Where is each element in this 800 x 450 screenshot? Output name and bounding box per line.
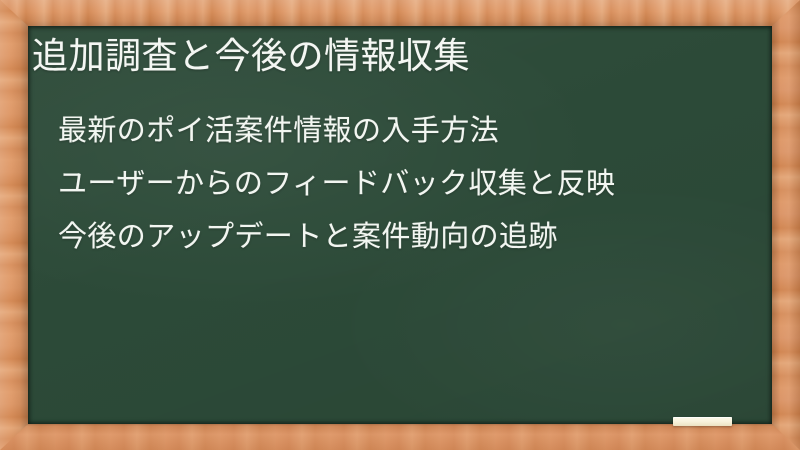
- chalkboard-surface: 追加調査と今後の情報収集 最新のポイ活案件情報の入手方法 ユーザーからのフィード…: [28, 26, 772, 424]
- bullet-item: ユーザーからのフィードバック収集と反映: [58, 158, 758, 211]
- board-content: 追加調査と今後の情報収集 最新のポイ活案件情報の入手方法 ユーザーからのフィード…: [28, 26, 772, 424]
- slide-title: 追加調査と今後の情報収集: [32, 33, 752, 78]
- chalk-stick: [673, 417, 732, 426]
- frame-bottom-ledge: [0, 424, 800, 450]
- bullet-item: 今後のアップデートと案件動向の追跡: [58, 211, 758, 264]
- bullet-item: 最新のポイ活案件情報の入手方法: [58, 105, 758, 158]
- frame-left-plank: [0, 0, 28, 450]
- bullet-list: 最新のポイ活案件情報の入手方法 ユーザーからのフィードバック収集と反映 今後のア…: [58, 105, 758, 264]
- chalkboard-slide: 追加調査と今後の情報収集 最新のポイ活案件情報の入手方法 ユーザーからのフィード…: [0, 0, 800, 450]
- frame-right-plank: [772, 0, 800, 450]
- frame-top-plank: [0, 0, 800, 26]
